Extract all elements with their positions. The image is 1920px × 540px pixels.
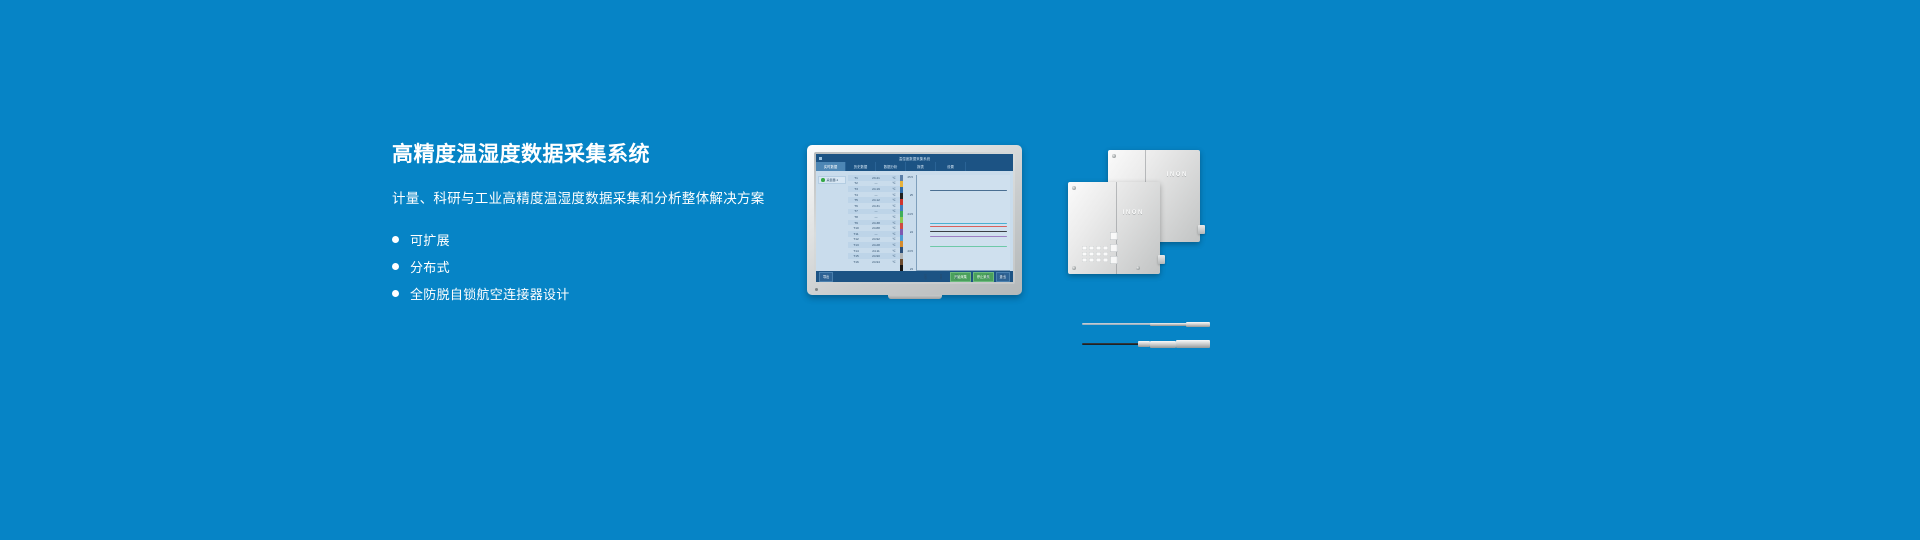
cell-channel: T14 (848, 249, 864, 253)
y-tick-label: 23.5 (903, 249, 913, 253)
probe-sheath (1150, 323, 1190, 326)
cell-unit: ℃ (888, 198, 900, 202)
cell-unit: ℃ (888, 221, 900, 225)
screen-tabbar: 实时数据 历史数据 数据分析 报表 设置 (816, 162, 1013, 171)
aviation-connector (1150, 341, 1176, 348)
trend-chart: 10:0010:2010:4011:0011:2011:40 (916, 175, 1010, 271)
monitor-product-image: 温湿度数据采集系统 实时数据 历史数据 数据分析 报表 设置 采集 (807, 145, 1022, 295)
y-tick-label: 25 (903, 193, 913, 197)
x-tick-label: 11:20 (985, 274, 988, 279)
cell-unit: ℃ (888, 215, 900, 219)
tab-settings[interactable]: 设置 (936, 162, 966, 171)
screen-body: 采集器-1 T123.41℃T2---℃T324.19℃T4---℃T524.1… (816, 171, 1013, 271)
cell-value: 23.41 (864, 176, 888, 180)
cell-channel: T7 (848, 209, 864, 213)
device-node[interactable]: 采集器-1 (818, 176, 846, 184)
cell-unit: ℃ (888, 204, 900, 208)
cell-unit: ℃ (888, 226, 900, 230)
trend-line (930, 226, 1007, 227)
cell-channel: T12 (848, 237, 864, 241)
screw-icon (1072, 266, 1076, 270)
chart-x-axis: 10:0010:2010:4011:0011:2011:40 (917, 274, 1010, 279)
trend-line (930, 190, 1007, 191)
cell-channel: T6 (848, 204, 864, 208)
screen-titlebar: 温湿度数据采集系统 (816, 154, 1013, 162)
feature-label: 可扩展 (410, 230, 450, 249)
cell-channel: T10 (848, 226, 864, 230)
monitor-screen: 温湿度数据采集系统 实时数据 历史数据 数据分析 报表 设置 采集 (816, 154, 1013, 282)
y-tick-label: 24 (903, 230, 913, 234)
cell-unit: ℃ (888, 232, 900, 236)
cell-unit: ℃ (888, 187, 900, 191)
cell-value: 24.38 (864, 221, 888, 225)
table-row[interactable]: T1624.94℃ (848, 259, 900, 265)
x-tick-label: 11:40 (1001, 274, 1004, 279)
cell-value: --- (864, 209, 888, 213)
x-tick-label: 10:00 (923, 274, 926, 279)
channel-table: T123.41℃T2---℃T324.19℃T4---℃T524.12℃T624… (848, 173, 900, 271)
connector-icon (1198, 225, 1205, 234)
cell-value: 24.28 (864, 243, 888, 247)
screw-icon (1112, 154, 1116, 158)
trend-line (930, 223, 1007, 224)
port-slots-icon (1110, 232, 1118, 264)
list-item: 可扩展 (392, 225, 822, 250)
cell-unit: ℃ (888, 249, 900, 253)
terminal-block-icon (1082, 246, 1108, 262)
cell-value: 24.92 (864, 237, 888, 241)
bullet-dot-icon (392, 263, 399, 270)
cell-unit: ℃ (888, 254, 900, 258)
cell-unit: ℃ (888, 209, 900, 213)
probe-strain-relief (1138, 341, 1150, 347)
cell-channel: T3 (848, 187, 864, 191)
probe-product-image (1082, 315, 1212, 365)
brand-label: INON (1167, 172, 1188, 178)
screw-icon (1136, 266, 1140, 270)
bullet-dot-icon (392, 290, 399, 297)
monitor-inner-bezel: 温湿度数据采集系统 实时数据 历史数据 数据分析 报表 设置 采集 (814, 152, 1015, 284)
x-tick-label: 11:00 (970, 274, 973, 279)
device-status-icon (821, 178, 825, 182)
page-subtitle: 计量、科研与工业高精度温湿度数据采集和分析整体解决方案 (392, 187, 822, 207)
power-led-icon (815, 288, 818, 291)
device-label: 采集器-1 (827, 178, 839, 182)
cell-unit: ℃ (888, 176, 900, 180)
feature-list: 可扩展 分布式 全防脱自锁航空连接器设计 (392, 225, 822, 304)
cell-unit: ℃ (888, 193, 900, 197)
monitor-chin (807, 284, 1022, 295)
cell-value: 24.11 (864, 249, 888, 253)
probe-cable (1082, 343, 1144, 345)
cell-channel: T15 (848, 254, 864, 258)
cell-unit: ℃ (888, 237, 900, 241)
cell-unit: ℃ (888, 243, 900, 247)
x-tick-label: 10:40 (954, 274, 957, 279)
cell-channel: T4 (848, 193, 864, 197)
module-product-image: INON INON (1060, 140, 1220, 305)
feature-label: 分布式 (410, 257, 450, 276)
acquisition-module-front: INON (1068, 182, 1160, 274)
cell-channel: T16 (848, 260, 864, 264)
list-item: 分布式 (392, 252, 822, 277)
tab-history[interactable]: 历史数据 (846, 162, 876, 171)
product-banner: 高精度温湿度数据采集系统 计量、科研与工业高精度温湿度数据采集和分析整体解决方案… (0, 0, 1920, 540)
cell-channel: T5 (848, 198, 864, 202)
cell-unit: ℃ (888, 260, 900, 264)
y-tick-label: 25.5 (903, 175, 913, 179)
export-button[interactable]: 导出 (819, 272, 833, 282)
trend-line (930, 236, 1007, 237)
tab-report[interactable]: 报表 (906, 162, 936, 171)
connector-icon (1158, 255, 1165, 264)
chart-y-axis: 25.52524.52423.523 (903, 175, 914, 271)
cell-channel: T1 (848, 176, 864, 180)
x-tick-label: 10:20 (939, 274, 942, 279)
banner-copy: 高精度温湿度数据采集系统 计量、科研与工业高精度温湿度数据采集和分析整体解决方案… (392, 142, 822, 304)
cell-value: 24.88 (864, 226, 888, 230)
cell-unit: ℃ (888, 181, 900, 185)
y-tick-label: 24.5 (903, 212, 913, 216)
cell-value: --- (864, 232, 888, 236)
cell-value: 24.31 (864, 204, 888, 208)
trend-line (930, 231, 1007, 232)
cell-value: 24.12 (864, 198, 888, 202)
cell-value: 24.90 (864, 254, 888, 258)
cell-value: --- (864, 215, 888, 219)
cell-value: 24.19 (864, 187, 888, 191)
cell-value: --- (864, 181, 888, 185)
brand-label: INON (1123, 210, 1144, 216)
screw-icon (1072, 186, 1076, 190)
cell-channel: T2 (848, 181, 864, 185)
tab-analysis[interactable]: 数据分析 (876, 162, 906, 171)
cell-channel: T8 (848, 215, 864, 219)
screen-device-tree: 采集器-1 (816, 173, 848, 271)
tab-realtime[interactable]: 实时数据 (816, 162, 846, 171)
cell-channel: T9 (848, 221, 864, 225)
screen-app-title: 温湿度数据采集系统 (816, 156, 1013, 161)
feature-label: 全防脱自锁航空连接器设计 (410, 284, 570, 303)
probe-tip (1186, 322, 1210, 327)
trend-line (930, 246, 1007, 247)
list-item: 全防脱自锁航空连接器设计 (392, 279, 822, 304)
cell-channel: T11 (848, 232, 864, 236)
monitor-stand (888, 295, 942, 299)
probe-body (1176, 340, 1210, 348)
cell-value: 24.94 (864, 260, 888, 264)
bullet-dot-icon (392, 236, 399, 243)
monitor-bezel: 温湿度数据采集系统 实时数据 历史数据 数据分析 报表 设置 采集 (807, 145, 1022, 295)
cell-channel: T13 (848, 243, 864, 247)
page-title: 高精度温湿度数据采集系统 (392, 142, 822, 167)
cell-value: --- (864, 193, 888, 197)
